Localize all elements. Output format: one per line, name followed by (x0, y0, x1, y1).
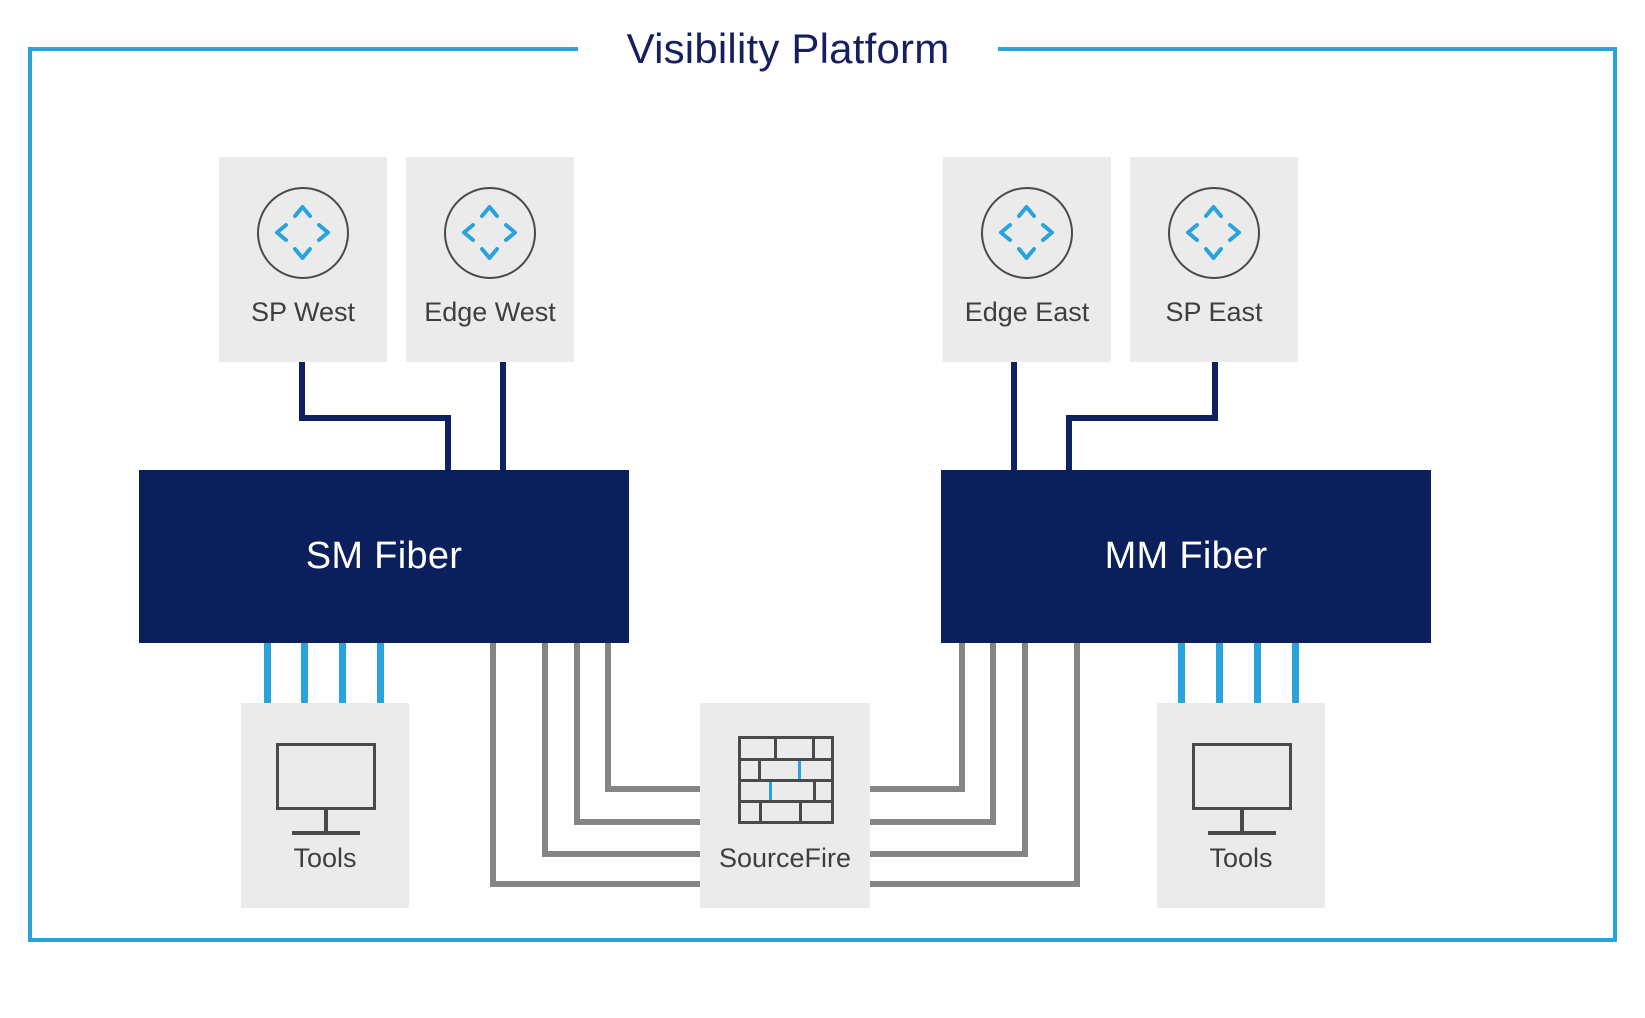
monitor-stand-neck (1240, 810, 1244, 833)
device-tile-edge-west[interactable]: Edge West (406, 157, 574, 362)
link-sm-tools-1 (264, 643, 271, 705)
device-label: SP West (219, 297, 387, 328)
router-icon (257, 187, 349, 279)
link-mm-sourcefire-4-horizontal (870, 881, 1080, 887)
page-title: Visibility Platform (578, 20, 998, 78)
link-sm-tools-2 (301, 643, 308, 705)
link-mm-sourcefire-2-vertical (990, 643, 996, 824)
firewall-brick-icon (738, 736, 834, 824)
link-mm-sourcefire-3-vertical (1022, 643, 1028, 856)
link-sp-east-segment-1 (1212, 362, 1218, 420)
link-mm-tools-4 (1292, 643, 1299, 705)
device-label: SP East (1130, 297, 1298, 328)
link-sp-west-segment-2 (299, 415, 451, 421)
link-mm-sourcefire-1-horizontal (870, 786, 965, 792)
device-tile-edge-east[interactable]: Edge East (943, 157, 1111, 362)
diagram-canvas: Visibility Platform SP West (0, 0, 1645, 1018)
link-sp-east-segment-3 (1066, 415, 1072, 471)
monitor-stand-base (292, 831, 360, 835)
link-mm-sourcefire-2-horizontal (870, 819, 996, 825)
device-tile-tools-left[interactable]: Tools (241, 703, 409, 908)
sm-fiber-label: SM Fiber (306, 535, 463, 578)
monitor-icon (276, 743, 376, 810)
link-mm-sourcefire-4-vertical (1074, 643, 1080, 886)
device-tile-sourcefire[interactable]: SourceFire (700, 703, 870, 908)
mm-fiber-label: MM Fiber (1105, 535, 1268, 578)
link-mm-tools-3 (1254, 643, 1261, 705)
link-sm-sourcefire-4-horizontal (490, 881, 700, 887)
device-label: Tools (241, 843, 409, 874)
monitor-stand-neck (324, 810, 328, 833)
link-sm-sourcefire-2-horizontal (574, 819, 700, 825)
router-icon (981, 187, 1073, 279)
router-icon (1168, 187, 1260, 279)
link-sm-sourcefire-1-horizontal (605, 786, 700, 792)
link-sm-sourcefire-1-vertical (605, 643, 611, 791)
monitor-icon (1192, 743, 1292, 810)
link-sp-west-segment-3 (445, 415, 451, 471)
link-sm-sourcefire-2-vertical (574, 643, 580, 824)
router-icon (444, 187, 536, 279)
mm-fiber-node[interactable]: MM Fiber (941, 470, 1431, 643)
device-label: SourceFire (700, 843, 870, 874)
device-label: Edge East (943, 297, 1111, 328)
device-label: Edge West (406, 297, 574, 328)
link-sm-sourcefire-3-horizontal (542, 851, 700, 857)
link-edge-west (500, 362, 506, 471)
link-mm-sourcefire-1-vertical (959, 643, 965, 791)
link-sp-west-segment-1 (299, 362, 305, 420)
device-tile-sp-west[interactable]: SP West (219, 157, 387, 362)
sm-fiber-node[interactable]: SM Fiber (139, 470, 629, 643)
link-sm-tools-4 (377, 643, 384, 705)
link-mm-tools-2 (1216, 643, 1223, 705)
device-tile-tools-right[interactable]: Tools (1157, 703, 1325, 908)
link-mm-tools-1 (1178, 643, 1185, 705)
link-sm-sourcefire-3-vertical (542, 643, 548, 856)
link-sp-east-segment-2 (1066, 415, 1218, 421)
device-label: Tools (1157, 843, 1325, 874)
device-tile-sp-east[interactable]: SP East (1130, 157, 1298, 362)
monitor-stand-base (1208, 831, 1276, 835)
link-mm-sourcefire-3-horizontal (870, 851, 1028, 857)
link-sm-tools-3 (339, 643, 346, 705)
link-edge-east (1011, 362, 1017, 471)
link-sm-sourcefire-4-vertical (490, 643, 496, 886)
